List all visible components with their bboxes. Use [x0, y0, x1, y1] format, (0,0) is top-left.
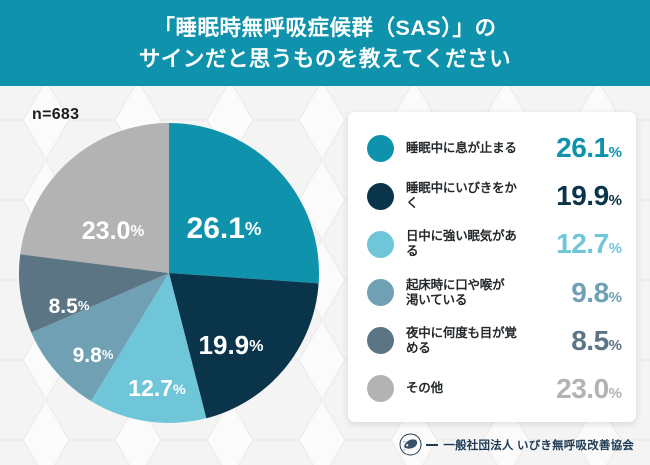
legend-item-label: 日中に強い眠気がある: [406, 229, 518, 259]
legend-item-value: 26.1%: [518, 132, 622, 164]
legend-value-percent-sign: %: [609, 144, 622, 161]
legend-value-percent-sign: %: [609, 240, 622, 257]
legend-item-label: 睡眠中にいびきをかく: [406, 181, 518, 211]
legend-item-value: 8.5%: [518, 325, 622, 357]
footer-divider-dash: [426, 444, 438, 446]
legend-value-percent-sign: %: [609, 337, 622, 354]
legend-value-number: 19.9: [556, 180, 609, 211]
legend-item-value: 12.7%: [518, 228, 622, 260]
legend-value-number: 9.8: [571, 277, 608, 308]
legend-item-5[interactable]: その他 23.0%: [362, 366, 622, 412]
legend-color-swatch-icon: [367, 279, 394, 306]
legend-item-label: 夜中に何度も目が覚める: [406, 326, 518, 356]
legend-value-percent-sign: %: [609, 289, 622, 306]
sleeping-face-circle-icon: [399, 433, 422, 456]
legend-value-percent-sign: %: [609, 385, 622, 402]
legend-item-3[interactable]: 起床時に口や喉が 渇いている 9.8%: [362, 270, 622, 316]
legend-value-percent-sign: %: [609, 192, 622, 209]
legend-item-1[interactable]: 睡眠中にいびきをかく 19.9%: [362, 173, 622, 219]
pie-slice[interactable]: [20, 123, 169, 273]
legend-item-0[interactable]: 睡眠中に息が止まる 26.1%: [362, 125, 622, 171]
pie-chart-svg: 26.1%19.9%12.7%9.8%8.5%23.0%: [18, 122, 320, 424]
legend-color-swatch-icon: [367, 135, 394, 162]
legend-value-number: 8.5: [571, 325, 608, 356]
header-banner: 「睡眠時無呼吸症候群（SAS）」の サインだと思うものを教えてください: [0, 0, 650, 86]
legend-color-swatch-icon: [367, 183, 394, 210]
legend-value-number: 23.0: [556, 373, 609, 404]
legend-item-value: 19.9%: [518, 180, 622, 212]
footer-organization-name: 一般社団法人 いびき無呼吸改善協会: [443, 437, 634, 453]
pie-chart: 26.1%19.9%12.7%9.8%8.5%23.0%: [18, 122, 320, 424]
infographic-page: 「睡眠時無呼吸症候群（SAS）」の サインだと思うものを教えてください n=68…: [0, 0, 650, 465]
legend-item-value: 9.8%: [518, 277, 622, 309]
legend-color-swatch-icon: [367, 231, 394, 258]
legend-color-swatch-icon: [367, 375, 394, 402]
legend-value-number: 26.1: [556, 132, 609, 163]
header-title-line-1: 「睡眠時無呼吸症候群（SAS）」の: [154, 13, 497, 44]
legend-item-label: その他: [406, 381, 518, 396]
pie-slice[interactable]: [169, 123, 319, 283]
legend-item-value: 23.0%: [518, 373, 622, 405]
legend-item-4[interactable]: 夜中に何度も目が覚める 8.5%: [362, 318, 622, 364]
legend-item-2[interactable]: 日中に強い眠気がある 12.7%: [362, 221, 622, 267]
legend-value-number: 12.7: [556, 228, 609, 259]
header-title-line-2: サインだと思うものを教えてください: [139, 44, 511, 75]
legend-item-label: 起床時に口や喉が 渇いている: [406, 278, 518, 308]
legend-item-label: 睡眠中に息が止まる: [406, 141, 518, 156]
footer-branding: 一般社団法人 いびき無呼吸改善協会: [399, 433, 634, 456]
legend-color-swatch-icon: [367, 327, 394, 354]
legend-card: 睡眠中に息が止まる 26.1% 睡眠中にいびきをかく 19.9% 日中に強い眠気…: [348, 112, 636, 422]
